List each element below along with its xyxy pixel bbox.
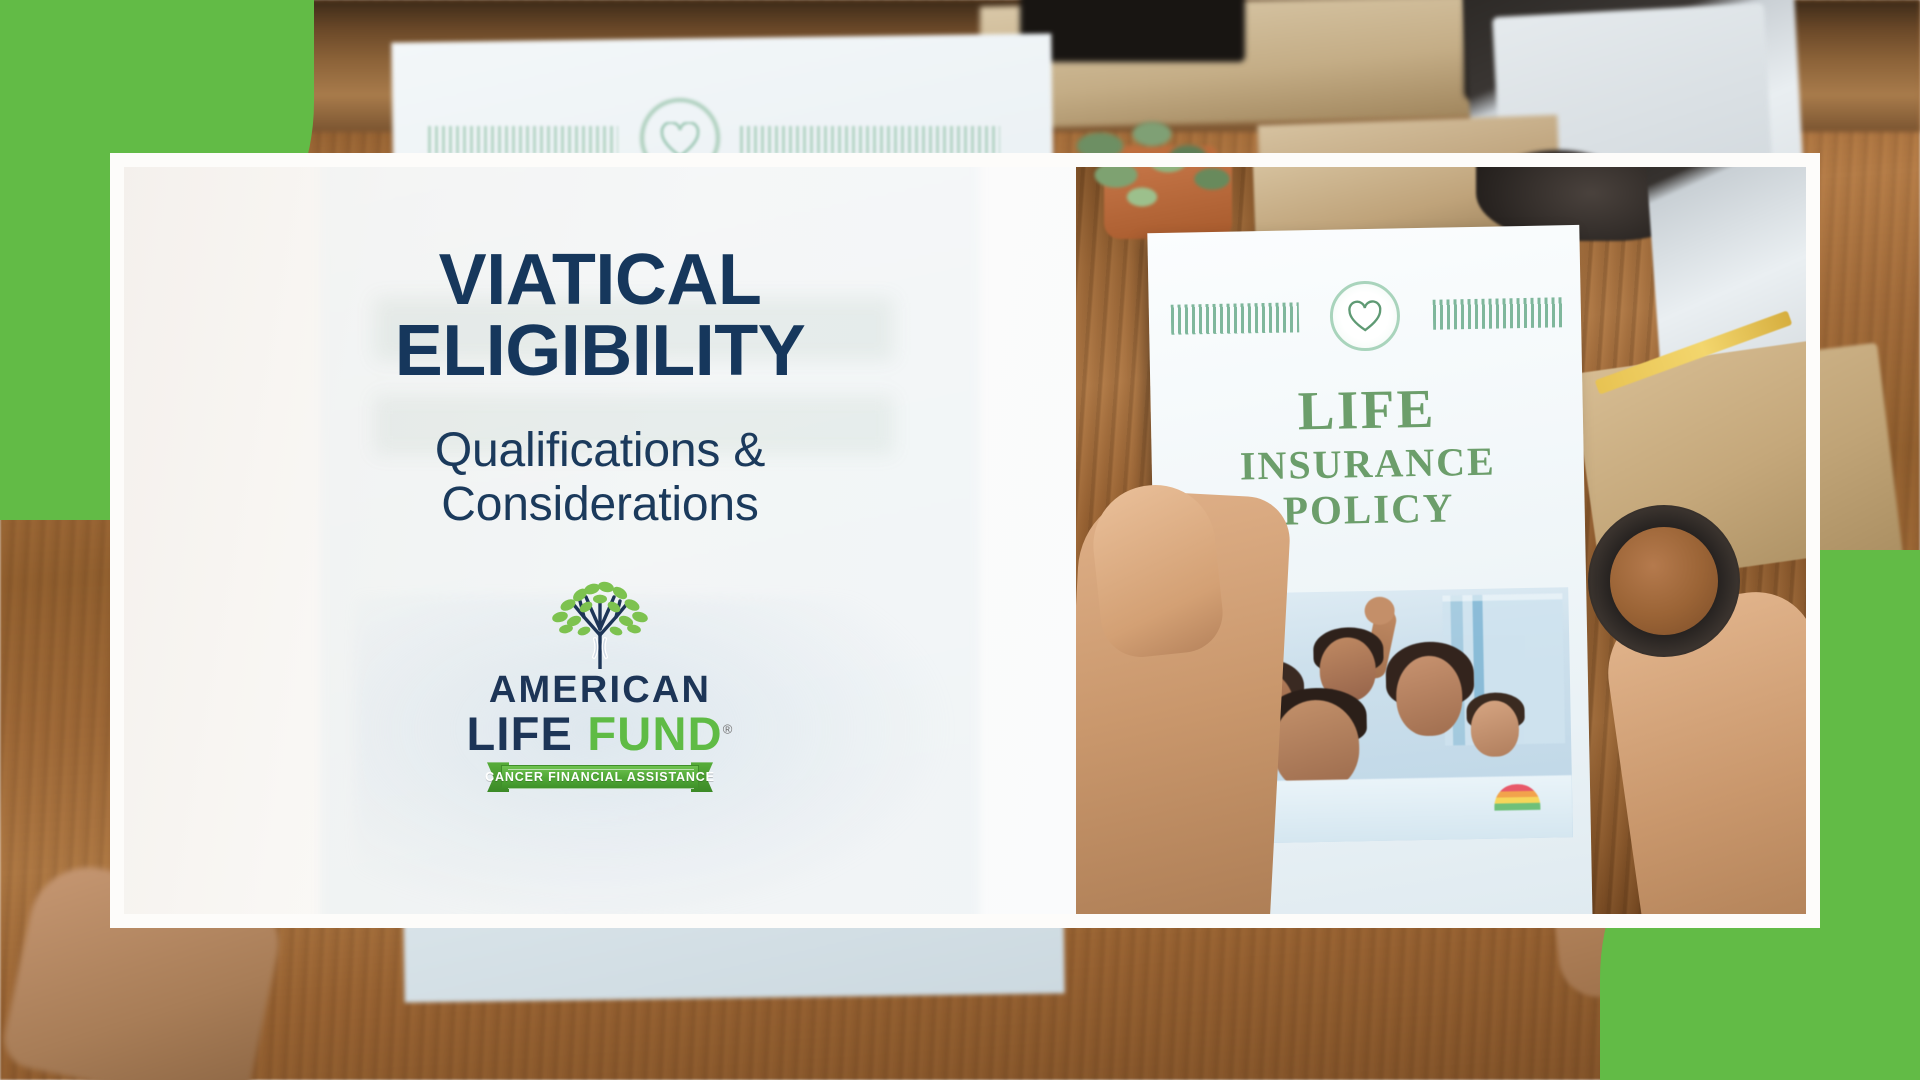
page-title: VIATICAL ELIGIBILITY xyxy=(124,245,1076,388)
content-card-inner: VIATICAL ELIGIBILITY Qualifications & Co… xyxy=(124,167,1806,914)
heart-icon xyxy=(1347,299,1384,333)
page-title-line-2: ELIGIBILITY xyxy=(124,316,1076,387)
logo-word-fund: FUND xyxy=(587,707,722,760)
brochure-dash-left xyxy=(1171,302,1300,334)
brand-logo[interactable]: AMERICAN LIFE FUND® CANCER FINANCIAL ASS… xyxy=(465,577,735,792)
photo-coffee-liquid xyxy=(1610,527,1718,635)
logo-ribbon-banner: CANCER FINANCIAL ASSISTANCE xyxy=(487,762,713,792)
family-baby-face xyxy=(1470,700,1519,757)
text-panel: VIATICAL ELIGIBILITY Qualifications & Co… xyxy=(124,167,1076,914)
family-mother-face xyxy=(1395,655,1463,736)
content-card: VIATICAL ELIGIBILITY Qualifications & Co… xyxy=(110,153,1820,928)
brochure-dash-right xyxy=(1433,297,1564,329)
logo-word-american: AMERICAN xyxy=(489,671,711,709)
logo-tagline: CANCER FINANCIAL ASSISTANCE xyxy=(485,770,715,784)
banner-canvas: VIATICAL ELIGIBILITY Qualifications & Co… xyxy=(0,0,1920,1080)
background-brochure-dash-right xyxy=(740,126,1000,154)
page-subtitle: Qualifications & Considerations xyxy=(124,424,1076,533)
tree-logo-icon xyxy=(540,577,660,669)
background-brochure-dash-left xyxy=(428,126,618,154)
heart-in-circle-icon xyxy=(1329,280,1400,351)
page-subtitle-line-2: Considerations xyxy=(124,478,1076,533)
logo-word-life: LIFE xyxy=(466,707,573,760)
logo-registered-mark: ® xyxy=(723,721,734,736)
logo-wordmark: LIFE FUND® xyxy=(466,710,733,758)
page-title-line-1: VIATICAL xyxy=(124,245,1076,316)
page-subtitle-line-1: Qualifications & xyxy=(124,424,1076,479)
photo-plant-leaves xyxy=(1086,167,1256,219)
brochure-title-line-1: LIFE xyxy=(1150,375,1583,445)
hero-photo: LIFE INSURANCE POLICY xyxy=(1076,167,1806,914)
background-dark-object-1 xyxy=(1020,0,1245,62)
